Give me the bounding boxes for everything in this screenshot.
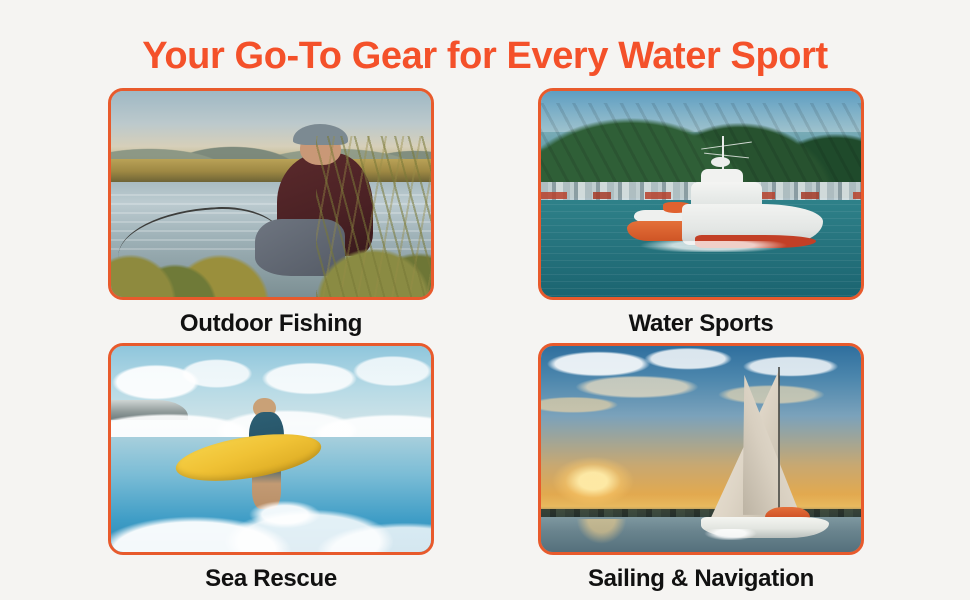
sailboat-mast-icon xyxy=(778,367,780,519)
rescue-vessel-photo-icon xyxy=(541,91,861,297)
ship-wake xyxy=(611,241,816,251)
card-image-frame[interactable] xyxy=(538,88,864,300)
page-title: Your Go-To Gear for Every Water Sport xyxy=(0,33,970,79)
fishing-photo-icon xyxy=(111,91,431,297)
radar-dome-icon xyxy=(711,157,730,167)
card-image-frame[interactable] xyxy=(108,343,434,555)
sailboat-photo-icon xyxy=(541,346,861,552)
card-caption: Sailing & Navigation xyxy=(538,563,864,595)
category-card-outdoor-fishing[interactable]: Outdoor Fishing xyxy=(108,88,434,340)
sun-reflection xyxy=(560,519,643,552)
promo-banner: Your Go-To Gear for Every Water Sport xyxy=(0,0,970,600)
category-card-sea-rescue[interactable]: Sea Rescue xyxy=(108,343,434,595)
card-caption: Outdoor Fishing xyxy=(108,308,434,340)
card-image-frame[interactable] xyxy=(108,88,434,300)
category-card-sailing-navigation[interactable]: Sailing & Navigation xyxy=(538,343,864,595)
category-grid: Outdoor Fishing xyxy=(108,88,864,588)
card-image-frame[interactable] xyxy=(538,343,864,555)
reed-stalks xyxy=(316,136,431,297)
splash-highlight xyxy=(239,498,341,531)
sun-glow xyxy=(547,453,675,507)
card-caption: Sea Rescue xyxy=(108,563,434,595)
surfer-photo-icon xyxy=(111,346,431,552)
bow-wake xyxy=(688,529,758,539)
card-caption: Water Sports xyxy=(538,308,864,340)
category-card-water-sports[interactable]: Water Sports xyxy=(538,88,864,340)
